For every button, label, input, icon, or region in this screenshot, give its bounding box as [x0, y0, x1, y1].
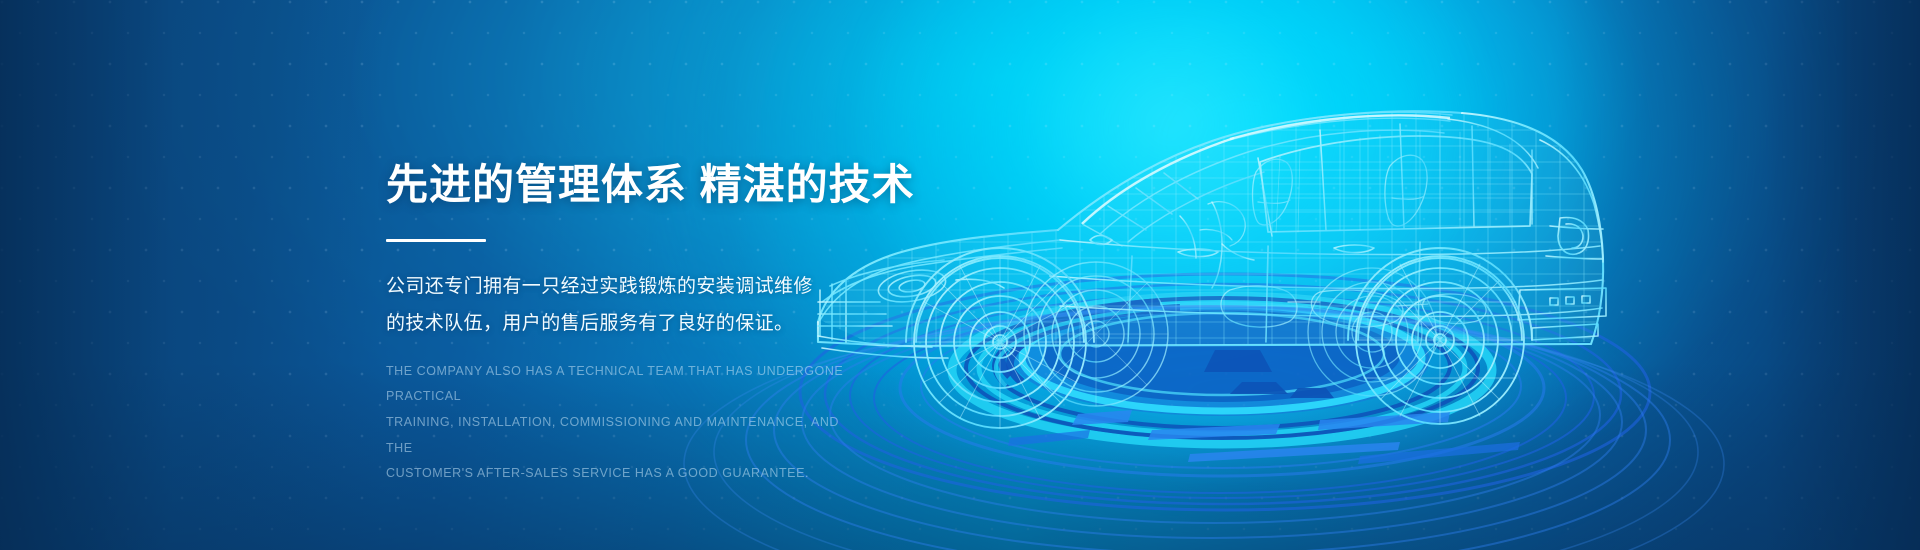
english-line-2: TRAINING, INSTALLATION, COMMISSIONING AN…: [386, 410, 856, 461]
copy-block: 先进的管理体系 精湛的技术 公司还专门拥有一只经过实践锻炼的安装调试维修 的技术…: [386, 160, 1026, 487]
description-english: THE COMPANY ALSO HAS A TECHNICAL TEAM TH…: [386, 359, 856, 487]
hero-banner: 先进的管理体系 精湛的技术 公司还专门拥有一只经过实践锻炼的安装调试维修 的技术…: [0, 0, 1920, 550]
page-title: 先进的管理体系 精湛的技术: [386, 160, 1026, 210]
description-line-1: 公司还专门拥有一只经过实践锻炼的安装调试维修: [386, 268, 856, 305]
english-line-1: THE COMPANY ALSO HAS A TECHNICAL TEAM TH…: [386, 359, 856, 410]
title-divider: [386, 239, 486, 242]
description-chinese: 公司还专门拥有一只经过实践锻炼的安装调试维修 的技术队伍，用户的售后服务有了良好…: [386, 268, 856, 342]
english-line-3: CUSTOMER'S AFTER-SALES SERVICE HAS A GOO…: [386, 461, 856, 487]
description-line-2: 的技术队伍，用户的售后服务有了良好的保证。: [386, 305, 856, 342]
